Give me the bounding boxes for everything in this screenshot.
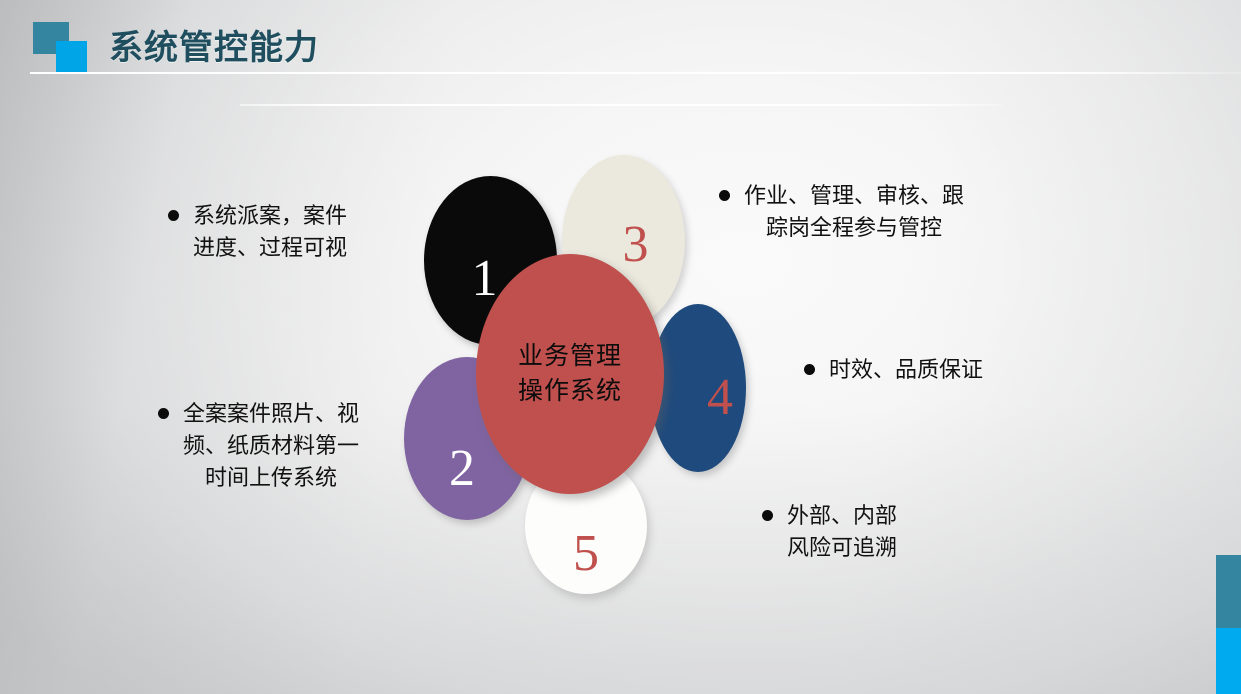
callout-3-text: 作业、管理、审核、跟 踪岗全程参与管控 bbox=[744, 180, 964, 244]
callout-1: 系统派案，案件 进度、过程可视 bbox=[168, 200, 408, 264]
petal-4-number: 4 bbox=[707, 372, 733, 424]
corner-accent-bar-teal bbox=[1216, 555, 1241, 628]
callout-4-text: 时效、品质保证 bbox=[829, 354, 983, 386]
callout-2: 全案案件照片、视 频、纸质材料第一 时间上传系统 bbox=[158, 398, 426, 494]
callout-1-text: 系统派案，案件 进度、过程可视 bbox=[193, 200, 347, 264]
petal-4[interactable]: 4 bbox=[650, 304, 746, 472]
blue-square-icon bbox=[56, 41, 87, 72]
bullet-dot-icon bbox=[762, 510, 773, 521]
slide-canvas: 系统管控能力 1 3 2 4 5 业务管理 操作系统 系统派案，案件 进度、过程… bbox=[0, 0, 1241, 694]
petal-3-number: 3 bbox=[623, 219, 649, 271]
corner-accent-bar-blue bbox=[1216, 628, 1241, 694]
callout-5-text: 外部、内部 风险可追溯 bbox=[787, 500, 897, 564]
callout-2-text: 全案案件照片、视 频、纸质材料第一 时间上传系统 bbox=[183, 398, 359, 494]
header-divider-bottom bbox=[240, 104, 1002, 106]
center-ellipse[interactable]: 业务管理 操作系统 bbox=[476, 254, 664, 494]
page-title: 系统管控能力 bbox=[109, 20, 319, 69]
center-label-line2: 操作系统 bbox=[518, 374, 622, 410]
petal-2-number: 2 bbox=[449, 443, 475, 495]
petal-1-number: 1 bbox=[472, 253, 498, 305]
callout-3: 作业、管理、审核、跟 踪岗全程参与管控 bbox=[719, 180, 1049, 244]
callout-5: 外部、内部 风险可追溯 bbox=[762, 500, 992, 564]
callout-4: 时效、品质保证 bbox=[804, 354, 1054, 386]
center-label-line1: 业务管理 bbox=[518, 339, 622, 375]
header-divider-top bbox=[30, 72, 1241, 74]
bullet-dot-icon bbox=[158, 408, 169, 419]
bullet-dot-icon bbox=[168, 210, 179, 221]
bullet-dot-icon bbox=[719, 190, 730, 201]
bullet-dot-icon bbox=[804, 364, 815, 375]
petal-5-number: 5 bbox=[573, 528, 599, 580]
